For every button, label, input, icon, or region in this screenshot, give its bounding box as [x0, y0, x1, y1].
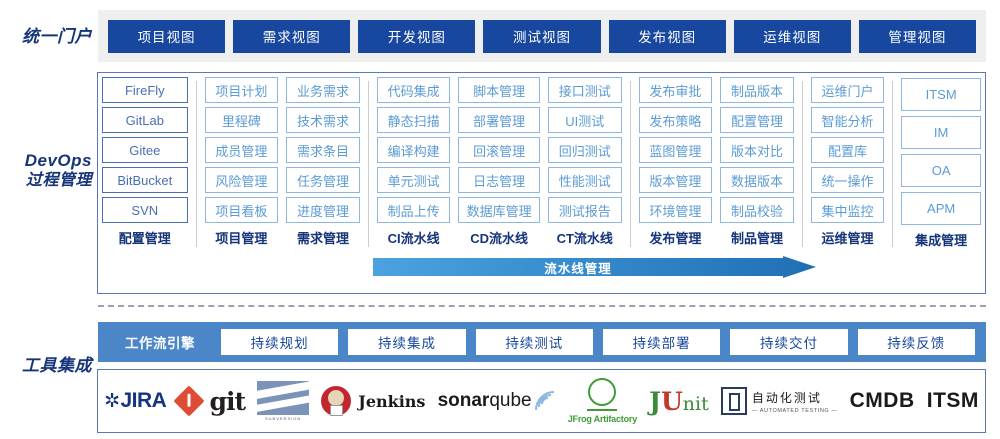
- capability-column-7: 发布审批发布策略蓝图管理版本管理环境管理发布管理: [635, 73, 717, 249]
- portal-view-button-2[interactable]: 需求视图: [233, 20, 350, 53]
- capability-column-title: 集成管理: [901, 230, 981, 249]
- portal-view-button-3[interactable]: 开发视图: [358, 20, 475, 53]
- jenkins-icon: [321, 386, 351, 416]
- capability-cell[interactable]: 配置库: [811, 137, 885, 163]
- git-icon: [174, 385, 205, 416]
- capability-cell[interactable]: 回滚管理: [458, 137, 540, 163]
- automated-testing-icon: [721, 387, 747, 415]
- workflow-stage-button-5[interactable]: 持续交付: [730, 329, 847, 355]
- capability-cell[interactable]: 发布策略: [639, 107, 713, 133]
- capability-column-title: 运维管理: [811, 228, 885, 247]
- pipeline-arrow: 流水线管理: [373, 256, 816, 278]
- capability-cell[interactable]: 环境管理: [639, 197, 713, 223]
- capability-cell[interactable]: 配置管理: [720, 107, 794, 133]
- portal-view-button-6[interactable]: 运维视图: [734, 20, 851, 53]
- logo-text-2: — AUTOMATED TESTING —: [752, 408, 838, 414]
- logo-text: SUBVERSION: [265, 416, 301, 421]
- capability-cell[interactable]: 单元测试: [377, 167, 451, 193]
- capability-cell[interactable]: 项目计划: [205, 77, 279, 103]
- tool-logo-strip: ✲JIRAgitSUBVERSIONJenkinssonarqubeJFrog …: [97, 369, 986, 433]
- capability-cell[interactable]: 风险管理: [205, 167, 279, 193]
- column-group-separator: [802, 81, 803, 247]
- capability-column-title: 配置管理: [102, 228, 188, 247]
- logo-text: CMDB: [850, 389, 915, 413]
- capability-cell[interactable]: 进度管理: [286, 197, 360, 223]
- logo-subversion: SUBVERSION: [257, 377, 309, 425]
- capability-cell[interactable]: 集中监控: [811, 197, 885, 223]
- section-divider: [98, 305, 986, 307]
- logo-sonarqube: sonarqube: [438, 377, 556, 425]
- column-group-separator: [196, 81, 197, 247]
- capability-cell[interactable]: 脚本管理: [458, 77, 540, 103]
- logo-text: JIRA: [120, 389, 166, 413]
- rail-label-devops-line1: DevOps: [25, 151, 92, 170]
- capability-column-5: 脚本管理部署管理回滚管理日志管理数据库管理CD流水线: [454, 73, 544, 249]
- logo-jfrog-artifactory: JFrog Artifactory: [568, 377, 637, 425]
- capability-cell[interactable]: 制品版本: [720, 77, 794, 103]
- capability-cell[interactable]: 部署管理: [458, 107, 540, 133]
- capability-column-1: FireFlyGitLabGiteeBitBucketSVN配置管理: [98, 73, 192, 249]
- capability-column-6: 接口测试UI测试回归测试性能测试测试报告CT流水线: [544, 73, 626, 249]
- column-group-separator: [368, 81, 369, 247]
- logo-text: git: [209, 387, 245, 416]
- workflow-stage-button-2[interactable]: 持续集成: [348, 329, 465, 355]
- capability-column-title: 制品管理: [720, 228, 794, 247]
- devops-process-panel: FireFlyGitLabGiteeBitBucketSVN配置管理项目计划里程…: [97, 72, 986, 294]
- subversion-icon: [257, 381, 309, 415]
- portal-view-button-7[interactable]: 管理视图: [859, 20, 976, 53]
- jfrog-icon: [588, 378, 616, 406]
- capability-cell[interactable]: 日志管理: [458, 167, 540, 193]
- column-group-separator: [630, 81, 631, 247]
- capability-column-title: 发布管理: [639, 228, 713, 247]
- capability-cell[interactable]: 数据库管理: [458, 197, 540, 223]
- rail-label-devops-line2: 过程管理: [0, 171, 92, 191]
- capability-columns: FireFlyGitLabGiteeBitBucketSVN配置管理项目计划里程…: [98, 73, 985, 249]
- capability-cell[interactable]: OA: [901, 154, 981, 187]
- workflow-stage-button-4[interactable]: 持续部署: [603, 329, 720, 355]
- capability-cell[interactable]: 测试报告: [548, 197, 622, 223]
- capability-column-8: 制品版本配置管理版本对比数据版本制品校验制品管理: [716, 73, 798, 249]
- portal-view-button-1[interactable]: 项目视图: [108, 20, 225, 53]
- capability-cell[interactable]: 发布审批: [639, 77, 713, 103]
- logo-itsm: ITSM: [927, 377, 979, 425]
- workflow-stage-button-1[interactable]: 持续规划: [221, 329, 338, 355]
- capability-column-title: 需求管理: [286, 228, 360, 247]
- capability-cell[interactable]: GitLab: [102, 107, 188, 133]
- logo-git: git: [178, 377, 245, 425]
- capability-cell[interactable]: 里程碑: [205, 107, 279, 133]
- pipeline-arrow-label: 流水线管理: [373, 256, 783, 278]
- capability-column-4: 代码集成静态扫描编译构建单元测试制品上传CI流水线: [373, 73, 455, 249]
- capability-cell[interactable]: UI测试: [548, 107, 622, 133]
- sonar-waves-icon: [534, 390, 556, 412]
- rail-label-tools: 工具集成: [0, 355, 92, 376]
- portal-view-button-4[interactable]: 测试视图: [483, 20, 600, 53]
- capability-column-title: 项目管理: [205, 228, 279, 247]
- capability-cell[interactable]: 编译构建: [377, 137, 451, 163]
- portal-view-bar: 项目视图需求视图开发视图测试视图发布视图运维视图管理视图: [98, 10, 986, 62]
- capability-cell[interactable]: 代码集成: [377, 77, 451, 103]
- capability-cell[interactable]: FireFly: [102, 77, 188, 103]
- capability-cell[interactable]: BitBucket: [102, 167, 188, 193]
- logo-text: JFrog Artifactory: [568, 414, 637, 424]
- capability-cell[interactable]: 数据版本: [720, 167, 794, 193]
- workflow-stage-button-3[interactable]: 持续测试: [476, 329, 593, 355]
- capability-cell[interactable]: ITSM: [901, 78, 981, 111]
- rail-label-devops: DevOps 过程管理: [0, 150, 92, 191]
- capability-cell[interactable]: 需求条目: [286, 137, 360, 163]
- column-group-separator: [892, 81, 893, 247]
- logo-jenkins: Jenkins: [321, 377, 425, 425]
- capability-cell[interactable]: 性能测试: [548, 167, 622, 193]
- logo-text-2: qube: [489, 390, 531, 412]
- capability-cell[interactable]: Gitee: [102, 137, 188, 163]
- capability-cell[interactable]: 接口测试: [548, 77, 622, 103]
- logo-text: sonar: [438, 390, 490, 412]
- capability-cell[interactable]: 技术需求: [286, 107, 360, 133]
- capability-cell[interactable]: 运维门户: [811, 77, 885, 103]
- logo-text: Jenkins: [358, 392, 425, 411]
- logo-text: 自动化测试: [752, 389, 838, 406]
- capability-column-3: 业务需求技术需求需求条目任务管理进度管理需求管理: [282, 73, 364, 249]
- capability-cell[interactable]: 版本管理: [639, 167, 713, 193]
- capability-cell[interactable]: APM: [901, 192, 981, 225]
- capability-cell[interactable]: 制品上传: [377, 197, 451, 223]
- logo-cmdb: CMDB: [850, 377, 915, 425]
- workflow-engine-bar: 工作流引擎 持续规划持续集成持续测试持续部署持续交付持续反馈: [98, 322, 986, 362]
- capability-cell[interactable]: 版本对比: [720, 137, 794, 163]
- logo-text: ITSM: [927, 389, 979, 413]
- rail-label-portal-text: 统一门户: [22, 27, 92, 46]
- logo-automated-testing: 自动化测试— AUTOMATED TESTING —: [721, 377, 838, 425]
- capability-cell[interactable]: 任务管理: [286, 167, 360, 193]
- capability-cell[interactable]: 蓝图管理: [639, 137, 713, 163]
- logo-junit: JUnit: [649, 377, 709, 425]
- capability-column-10: ITSMIMOAAPM集成管理: [897, 73, 985, 249]
- workflow-engine-label: 工作流引擎: [104, 332, 216, 352]
- capability-cell[interactable]: 智能分析: [811, 107, 885, 133]
- capability-cell[interactable]: 项目看板: [205, 197, 279, 223]
- rail-label-portal: 统一门户: [0, 26, 92, 47]
- capability-column-9: 运维门户智能分析配置库统一操作集中监控运维管理: [807, 73, 889, 249]
- rail-label-tools-text: 工具集成: [22, 356, 92, 375]
- jira-icon: ✲JIRA: [104, 389, 166, 413]
- capability-column-title: CT流水线: [548, 228, 622, 247]
- capability-cell[interactable]: 业务需求: [286, 77, 360, 103]
- capability-column-title: CI流水线: [377, 228, 451, 247]
- workflow-stage-button-6[interactable]: 持续反馈: [858, 329, 975, 355]
- capability-cell[interactable]: 静态扫描: [377, 107, 451, 133]
- capability-cell[interactable]: 回归测试: [548, 137, 622, 163]
- capability-cell[interactable]: SVN: [102, 197, 188, 223]
- logo-jira: ✲JIRA: [104, 377, 166, 425]
- portal-view-button-5[interactable]: 发布视图: [609, 20, 726, 53]
- capability-column-title: CD流水线: [458, 228, 540, 247]
- capability-cell[interactable]: IM: [901, 116, 981, 149]
- capability-column-2: 项目计划里程碑成员管理风险管理项目看板项目管理: [201, 73, 283, 249]
- capability-cell[interactable]: 统一操作: [811, 167, 885, 193]
- capability-cell[interactable]: 制品校验: [720, 197, 794, 223]
- devops-platform-diagram: 统一门户 DevOps 过程管理 工具集成 项目视图需求视图开发视图测试视图发布…: [0, 0, 1000, 439]
- capability-cell[interactable]: 成员管理: [205, 137, 279, 163]
